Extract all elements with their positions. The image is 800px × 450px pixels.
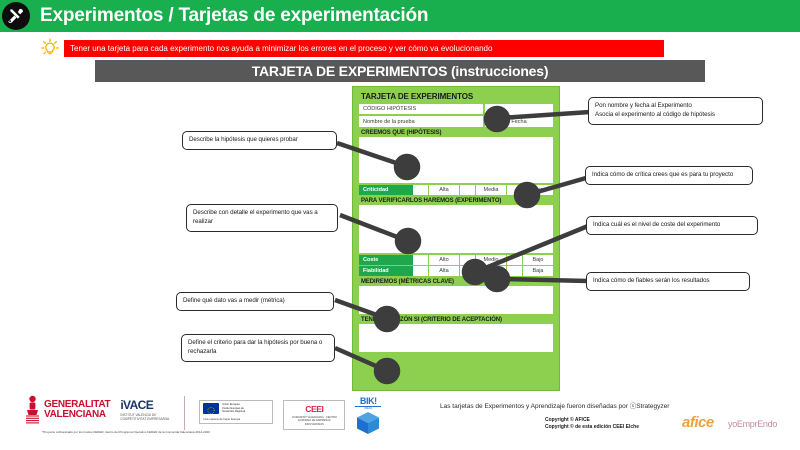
criterio-textarea[interactable] xyxy=(359,324,553,352)
hipotesis-textarea[interactable] xyxy=(359,137,553,183)
copyright-block: Copyright © AFICE Copyright © de esta ed… xyxy=(545,417,639,432)
coste-option-alto[interactable]: Alto xyxy=(429,255,460,265)
ivace-wordmark: iVACE xyxy=(120,398,172,412)
slide-header: Experimentos / Tarjetas de experimentaci… xyxy=(0,0,800,32)
eu-flag-icon xyxy=(203,403,219,414)
coste-check-medio[interactable] xyxy=(460,255,476,265)
experiment-card: TARJETA DE EXPERIMENTOS CÓDIGO HIPÓTESIS… xyxy=(352,86,560,391)
ceei-subtext: COMUNITAT VALENCIANA · CENTRO EUROPEO DE… xyxy=(288,416,340,426)
level-label-criticidad: Criticidad xyxy=(359,185,413,195)
fiabilidad-option-alta[interactable]: Alta xyxy=(429,266,460,276)
copyright-line-2: Copyright © de esta edición CEEI Elche xyxy=(545,424,639,431)
coste-option-bajo[interactable]: Bajo xyxy=(523,255,553,265)
callout-experimento[interactable]: Describe con detalle el experimento que … xyxy=(186,204,338,232)
level-label-fiabilidad: Fiabilidad xyxy=(359,266,413,276)
callout-metrica[interactable]: Define qué dato vas a medir (métrica) xyxy=(176,292,334,311)
level-row-fiabilidad[interactable]: Fiabilidad Alta Media Baja xyxy=(359,266,553,276)
date-field[interactable]: Fecha xyxy=(485,116,553,127)
eu-text: Unión Europea Fondo Europeo de Desarroll… xyxy=(222,403,245,413)
ceei-logo: CEEI COMUNITAT VALENCIANA · CENTRO EUROP… xyxy=(283,400,345,430)
logo-divider xyxy=(184,396,185,430)
section-label-hipotesis: CREEMOS QUE (HIPÓTESIS) xyxy=(361,130,553,136)
tools-icon xyxy=(2,2,30,30)
gv-line2: VALENCIANA xyxy=(44,410,110,420)
criticidad-check-baja[interactable] xyxy=(507,185,523,195)
criticidad-check-media[interactable] xyxy=(460,185,476,195)
fiabilidad-check-alta[interactable] xyxy=(413,266,429,276)
fiabilidad-option-media[interactable]: Media xyxy=(476,266,507,276)
criticidad-option-baja[interactable]: Baja xyxy=(523,185,553,195)
callout-criticidad[interactable]: Indica cómo de crítica crees que es para… xyxy=(585,166,753,185)
level-stack: Coste Alto Medio Bajo Fiabilidad Alta Me… xyxy=(359,255,553,276)
bik-cube-icon xyxy=(355,410,381,436)
callout-fiabilidad[interactable]: Indica cómo de fiables serán los resulta… xyxy=(586,272,750,291)
level-label-coste: Coste xyxy=(359,255,413,265)
card-title: TARJETA DE EXPERIMENTOS xyxy=(361,92,553,101)
callout-nombre-fecha[interactable]: Pon nombre y fecha al Experimento Asocia… xyxy=(588,97,763,125)
yoemprendo-logo: yoEmprEndo xyxy=(728,419,777,429)
lightbulb-icon xyxy=(40,38,60,58)
criticidad-option-alta[interactable]: Alta xyxy=(429,185,460,195)
fiabilidad-option-baja[interactable]: Baja xyxy=(523,266,553,276)
test-name-field[interactable]: Nombre de la prueba xyxy=(359,116,483,127)
fiabilidad-check-media[interactable] xyxy=(460,266,476,276)
section-label-criterio: TENEMOS RAZÓN SI (CRITERIO DE ACEPTACIÓN… xyxy=(361,317,553,323)
ceei-wordmark: CEEI xyxy=(288,404,340,414)
level-row-criticidad[interactable]: Criticidad Alta Media Baja xyxy=(359,185,553,195)
metricas-textarea[interactable] xyxy=(359,286,553,314)
page-title: Experimentos / Tarjetas de experimentaci… xyxy=(40,5,428,27)
callout-coste[interactable]: Indica cuál es el nivel de coste del exp… xyxy=(586,216,758,235)
section-subtitle-bar: TARJETA DE EXPERIMENTOS (instrucciones) xyxy=(95,60,705,82)
bik-wordmark: BIK! xyxy=(355,396,381,406)
funding-note: *Proyecto cofinanciado por los fondos FE… xyxy=(26,430,226,434)
fiabilidad-check-baja[interactable] xyxy=(507,266,523,276)
experimento-textarea[interactable] xyxy=(359,205,553,253)
bik-logo: BIK! IDEAS xyxy=(355,396,381,441)
tip-banner: Tener una tarjeta para cada experimento … xyxy=(64,40,664,57)
strategyzer-note: Las tarjetas de Experimentos y Aprendiza… xyxy=(440,400,669,410)
gv-crest-icon xyxy=(24,394,41,426)
card-code-row: CÓDIGO HIPÓTESIS xyxy=(359,104,553,115)
afice-logo: afice xyxy=(682,414,714,431)
criticidad-option-media[interactable]: Media xyxy=(476,185,507,195)
ivace-subtext: INSTITUT VALENCIÀ DE COMPETITIVITAT EMPR… xyxy=(120,413,172,421)
level-row-coste[interactable]: Coste Alto Medio Bajo xyxy=(359,255,553,265)
section-label-experimento: PARA VERIFICARLOS HAREMOS (EXPERIMENTO) xyxy=(361,198,553,204)
code-hipotesis-field[interactable]: CÓDIGO HIPÓTESIS xyxy=(359,104,483,115)
coste-option-medio[interactable]: Medio xyxy=(476,255,507,265)
coste-check-bajo[interactable] xyxy=(507,255,523,265)
callout-hipotesis[interactable]: Describe la hipótesis que quieres probar xyxy=(182,131,337,150)
generalitat-valenciana-logo: GENERALITAT VALENCIANA xyxy=(24,394,110,426)
coste-check-alto[interactable] xyxy=(413,255,429,265)
code-blank-cell[interactable] xyxy=(485,104,553,115)
slide-root: Experimentos / Tarjetas de experimentaci… xyxy=(0,0,800,450)
ivace-logo: iVACE INSTITUT VALENCIÀ DE COMPETITIVITA… xyxy=(120,398,172,421)
card-name-row: Nombre de la prueba Fecha xyxy=(359,116,553,127)
criticidad-check-alta[interactable] xyxy=(413,185,429,195)
slide-footer: GENERALITAT VALENCIANA iVACE INSTITUT VA… xyxy=(0,392,800,450)
section-label-metricas: MEDIREMOS (MÉTRICAS CLAVE) xyxy=(361,279,553,285)
eu-feder-logo: Unión Europea Fondo Europeo de Desarroll… xyxy=(199,400,273,424)
eu-caption: Una manera de hacer Europa xyxy=(203,417,269,421)
tip-row: Tener una tarjeta para cada experimento … xyxy=(40,38,700,58)
callout-criterio[interactable]: Define el criterio para dar la hipótesis… xyxy=(181,334,335,362)
